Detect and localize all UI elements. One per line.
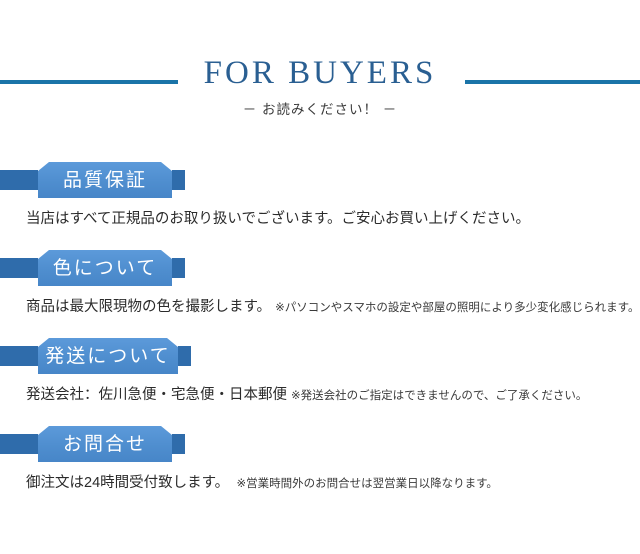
section-body-note: ※営業時間外のお問合せは翌営業日以降なります。 (236, 478, 497, 490)
page-title: FOR BUYERS (0, 57, 640, 90)
page-subtitle: － お読みください！ － (0, 103, 640, 117)
section-body-main: 商品は最大限現物の色を撮影します。 (26, 299, 275, 315)
section-heading: お問合せ (63, 435, 147, 454)
section-body-main: 発送会社：佐川急便・宅急便・日本郵便 (26, 387, 291, 403)
section-body-main: 当店はすべて正規品のお取り扱いでございます。ご安心お買い上げください。 (26, 211, 530, 227)
ribbon-notch-left-icon (38, 162, 49, 171)
section-ribbon: お問合せ (0, 414, 640, 462)
section-ribbon: 品質保証 (0, 150, 640, 198)
section-ribbon: 発送について (0, 326, 640, 374)
section-body: 当店はすべて正規品のお取り扱いでございます。ご安心お買い上げください。 (0, 211, 640, 228)
ribbon-notch-left-icon (38, 250, 49, 259)
ribbon-panel: お問合せ (38, 426, 172, 462)
ribbon-notch-right-icon (161, 426, 172, 435)
section-body: 商品は最大限現物の色を撮影します。 ※パソコンやスマホの設定や部屋の照明により多… (0, 299, 640, 316)
ribbon-panel: 品質保証 (38, 162, 172, 198)
section-body-note: ※パソコンやスマホの設定や部屋の照明により多少変化感じられます。 (275, 302, 639, 314)
ribbon-notch-left-icon (38, 426, 49, 435)
for-buyers-page: { "header": { "title": "FOR BUYERS", "su… (0, 0, 640, 554)
section-body-main: 御注文は24時間受付致します。 (26, 475, 236, 491)
page-header: FOR BUYERS － お読みください！ － (0, 0, 640, 150)
section-ribbon: 色について (0, 238, 640, 286)
section-heading: 品質保証 (63, 171, 147, 190)
section-body: 御注文は24時間受付致します。 ※営業時間外のお問合せは翌営業日以降なります。 (0, 475, 640, 492)
section-contact: お問合せ 御注文は24時間受付致します。 ※営業時間外のお問合せは翌営業日以降な… (0, 414, 640, 492)
section-body: 発送会社：佐川急便・宅急便・日本郵便 ※発送会社のご指定はできませんので、ご了承… (0, 387, 640, 404)
section-quality-guarantee: 品質保証 当店はすべて正規品のお取り扱いでございます。ご安心お買い上げください。 (0, 150, 640, 228)
section-heading: 色について (53, 259, 157, 278)
section-about-color: 色について 商品は最大限現物の色を撮影します。 ※パソコンやスマホの設定や部屋の… (0, 238, 640, 316)
ribbon-notch-right-icon (167, 338, 178, 347)
section-heading: 発送について (45, 347, 170, 366)
section-body-note: ※発送会社のご指定はできませんので、ご了承ください。 (291, 390, 587, 402)
section-about-shipping: 発送について 発送会社：佐川急便・宅急便・日本郵便 ※発送会社のご指定はできませ… (0, 326, 640, 404)
ribbon-notch-right-icon (161, 162, 172, 171)
ribbon-panel: 色について (38, 250, 172, 286)
ribbon-panel: 発送について (38, 338, 178, 374)
ribbon-notch-right-icon (161, 250, 172, 259)
ribbon-notch-left-icon (38, 338, 49, 347)
